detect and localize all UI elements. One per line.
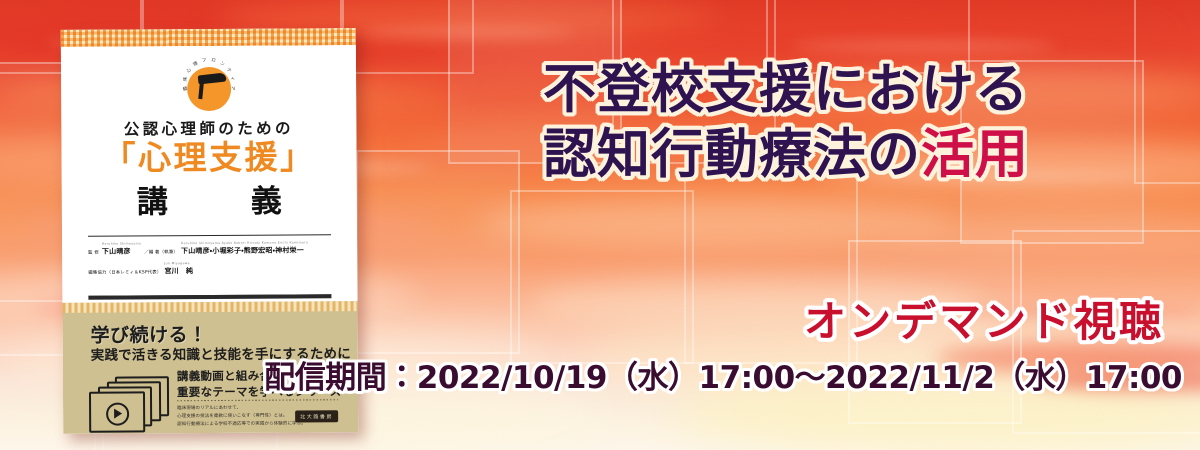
credits-row-authors: 監 修 Haruhiko Shimoyama 下山晴彦 ／編 著（執筆） Har… (88, 240, 331, 257)
delivery-period: 配信期間：2022/10/19（水）17:00〜2022/11/2（水）17:0… (264, 352, 1182, 397)
series-logo-icon: 臨床心理フロンティア (181, 57, 235, 111)
assistant-label: 編集協力（日本レミィ＆KSP代表） (88, 270, 161, 277)
supervisor-block: Haruhiko Shimoyama 下山晴彦 (102, 241, 141, 257)
play-cards-icon (89, 376, 167, 428)
logo-ring-text: 臨床心理フロンティア (181, 57, 235, 111)
obi-dotted-rule (177, 399, 338, 401)
headline-line-1: 不登校支援における (416, 58, 1156, 123)
assistant-romaji: Jun Miyagawa (164, 262, 193, 267)
obi-pattern (62, 301, 357, 313)
supervisor-name: 下山晴彦 (102, 247, 131, 255)
supervisor-romaji: Haruhiko Shimoyama (102, 241, 141, 246)
headline-line-2: 認知行動療法の活用 (416, 123, 1156, 188)
assistant-name: 宮川 純 (164, 267, 193, 275)
authors-block: Haruhiko Shimoyama Ayako Kobori Hiroaki … (181, 240, 308, 256)
play-icon (106, 402, 129, 425)
publisher-badge: 北大路書房 (295, 410, 338, 422)
authors-romaji: Haruhiko Shimoyama Ayako Kobori Hiroaki … (181, 240, 308, 245)
assistant-block: Jun Miyagawa 宮川 純 (164, 262, 193, 278)
book-title-main: 「心理支援」 (61, 140, 356, 175)
book-title-prefix: 公認心理師のための (61, 116, 356, 140)
ondemand-label: オンデマンド視聴 (804, 288, 1164, 349)
credits-row-assistant: 編集協力（日本レミィ＆KSP代表） Jun Miyagawa 宮川 純 (88, 261, 331, 278)
supervisor-label: 監 修 (88, 250, 99, 257)
overlay-tile (510, 190, 694, 364)
promo-banner: 臨床心理フロンティア 公認心理師のための 「心理支援」 講 義 監 修 Haru… (0, 0, 1200, 450)
authors-name: 下山晴彦・小堀彩子・熊野宏昭・神村栄一 (181, 246, 304, 255)
headline-line-2-main: 認知行動療法の (543, 124, 921, 185)
book-top-pattern (61, 28, 356, 47)
headline-accent: 活用 (921, 124, 1029, 185)
book-credits: 監 修 Haruhiko Shimoyama 下山晴彦 ／編 著（執筆） Har… (88, 240, 331, 277)
book-title-sub: 講 義 (62, 186, 357, 219)
editor-label: ／編 著（執筆） (144, 250, 178, 257)
page-title: 不登校支援における 認知行動療法の活用 (416, 58, 1156, 187)
